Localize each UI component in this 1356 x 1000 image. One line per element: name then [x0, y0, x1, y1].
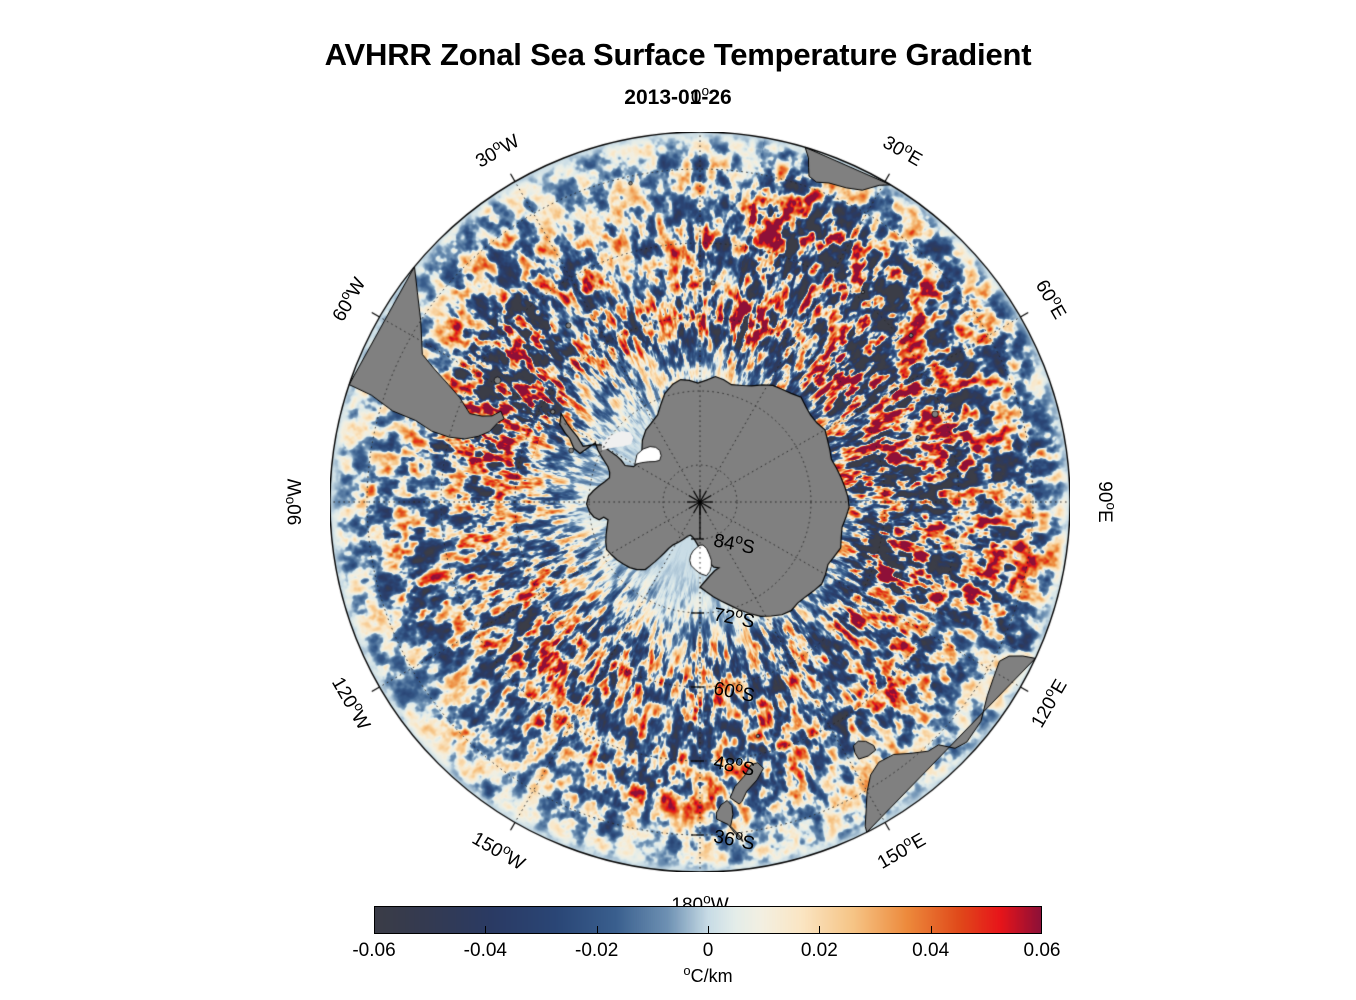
colorbar-tick [597, 926, 598, 934]
polar-map[interactable]: 0o30oE60oE90oE120oE150oE180oW150oW120oW9… [330, 132, 1070, 872]
figure-subtitle: 2013-01-26 [0, 86, 1356, 110]
map-raster [330, 132, 1070, 872]
colorbar-tick [819, 926, 820, 934]
colorbar-tick-label: -0.06 [352, 940, 395, 962]
colorbar-tick-label: 0.02 [801, 940, 838, 962]
figure-title: AVHRR Zonal Sea Surface Temperature Grad… [0, 38, 1356, 72]
colorbar-tick-label: -0.02 [575, 940, 618, 962]
colorbar-tick [931, 926, 932, 934]
colorbar[interactable]: -0.06-0.04-0.0200.020.040.06 oC/km [374, 906, 1042, 934]
colorbar-tick-label: -0.04 [464, 940, 507, 962]
colorbar-tick-label: 0.04 [912, 940, 949, 962]
colorbar-tick [485, 926, 486, 934]
colorbar-tick [708, 926, 709, 934]
figure-canvas: AVHRR Zonal Sea Surface Temperature Grad… [0, 0, 1356, 1000]
colorbar-ticks: -0.06-0.04-0.0200.020.040.06 [374, 906, 1042, 934]
lon-90w-label: 90oW [285, 479, 307, 526]
colorbar-unit-label: oC/km [374, 966, 1042, 987]
colorbar-unit-text: C/km [691, 966, 733, 986]
colorbar-tick-label: 0 [703, 940, 714, 962]
colorbar-tick-label: 0.06 [1024, 940, 1061, 962]
lon-90e-label: 90oE [1093, 481, 1115, 522]
